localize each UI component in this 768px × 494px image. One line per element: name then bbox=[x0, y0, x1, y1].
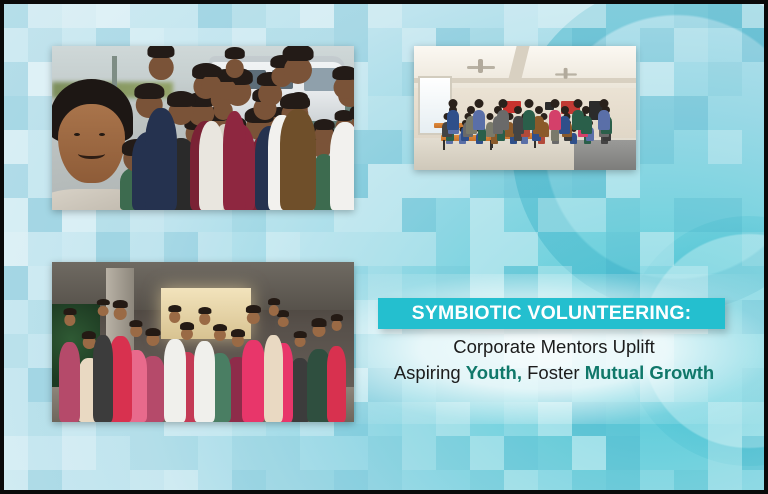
subtitle-highlight-youth: Youth, bbox=[466, 362, 522, 383]
photo-group-selfie bbox=[52, 46, 354, 210]
photo-classroom-session bbox=[414, 46, 636, 170]
title-banner-text: SYMBIOTIC VOLUNTEERING: bbox=[412, 302, 692, 325]
title-banner: SYMBIOTIC VOLUNTEERING: bbox=[378, 298, 725, 329]
photo-women-group bbox=[52, 262, 354, 422]
subtitle-line-2: Aspiring Youth, Foster Mutual Growth bbox=[366, 362, 742, 384]
photo-women-group-image bbox=[52, 262, 354, 422]
subtitle-highlight-mutual-growth: Mutual Growth bbox=[585, 362, 714, 383]
subtitle-part-foster: Foster bbox=[522, 362, 585, 383]
photo-group-selfie-image bbox=[52, 46, 354, 210]
poster-canvas: SYMBIOTIC VOLUNTEERING: Corporate Mentor… bbox=[0, 0, 768, 494]
subtitle-line-1: Corporate Mentors Uplift bbox=[378, 336, 730, 358]
photo-classroom-session-image bbox=[414, 46, 636, 170]
subtitle-part-aspiring: Aspiring bbox=[394, 362, 466, 383]
